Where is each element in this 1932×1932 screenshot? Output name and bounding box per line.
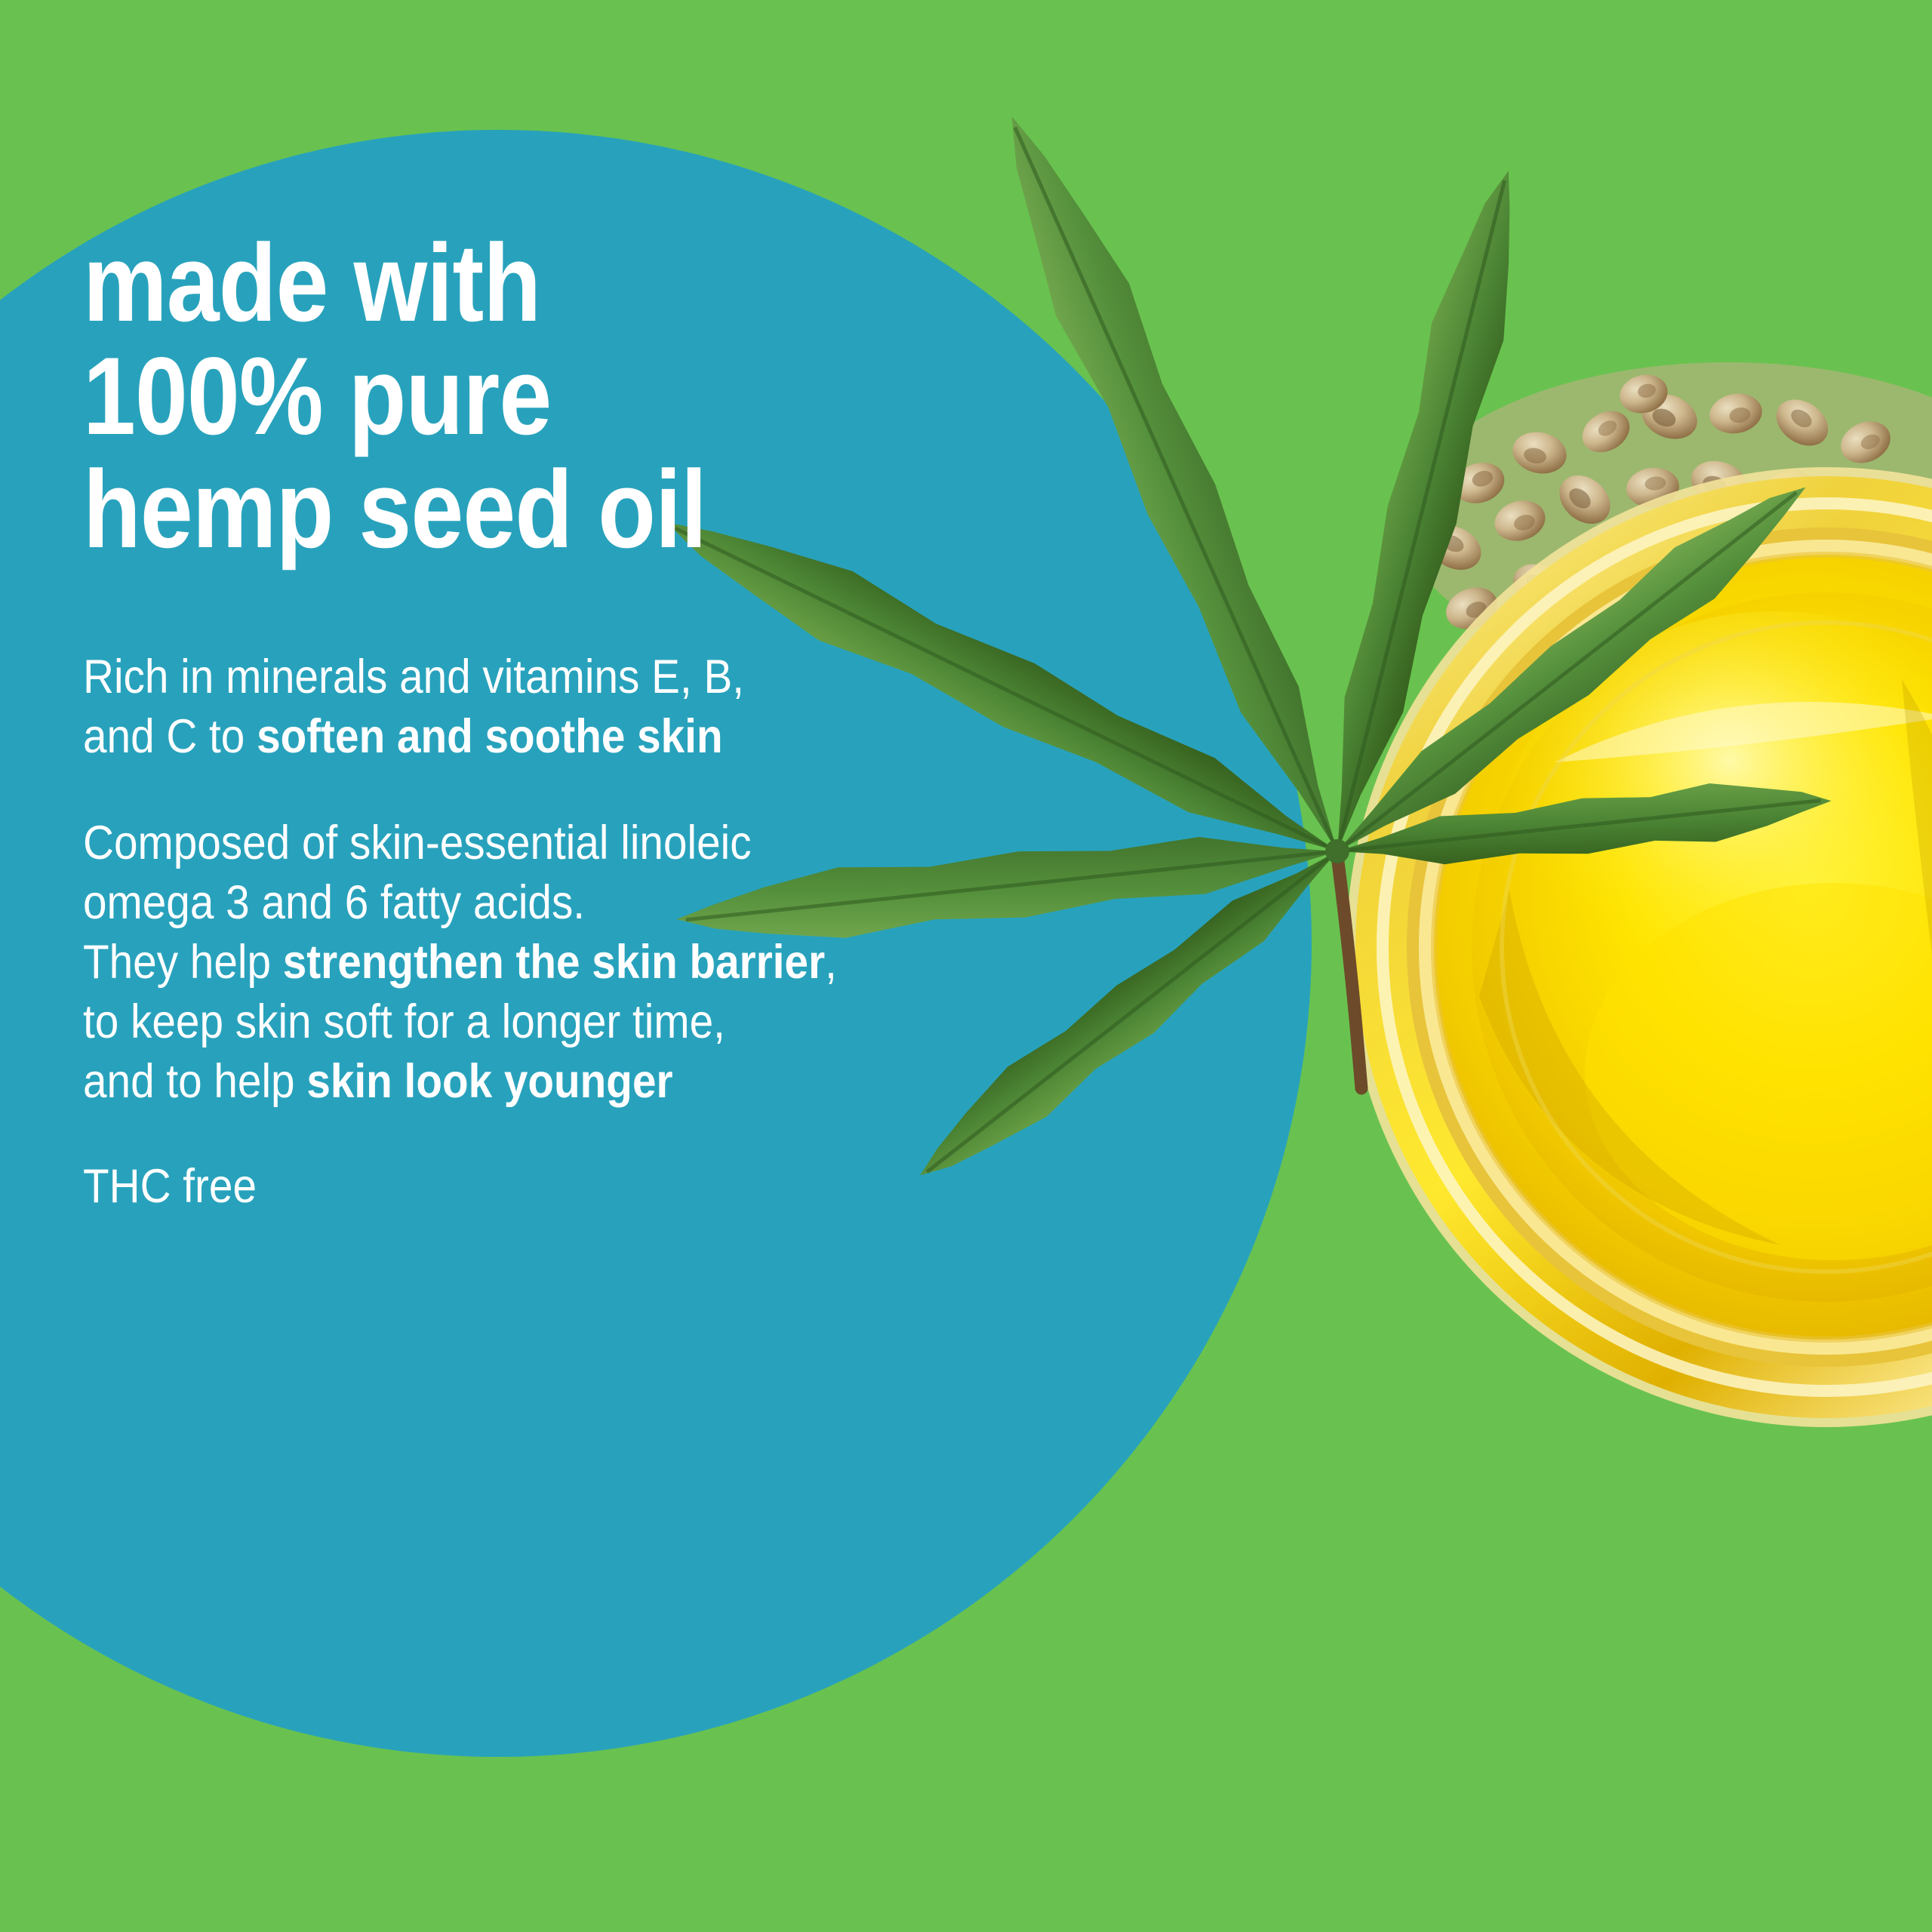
page-title: made with 100% pure hemp seed oil (83, 226, 1044, 566)
benefit-paragraph-1: Rich in minerals and vitamins E, B, and … (83, 648, 1088, 767)
benefit-paragraph-3: THC free (83, 1157, 1088, 1217)
promo-canvas: made with 100% pure hemp seed oil Rich i… (0, 0, 1932, 1932)
copy-block: made with 100% pure hemp seed oil Rich i… (83, 226, 1200, 1217)
benefit-paragraph-2: Composed of skin-essential linoleic omeg… (83, 814, 1088, 1112)
